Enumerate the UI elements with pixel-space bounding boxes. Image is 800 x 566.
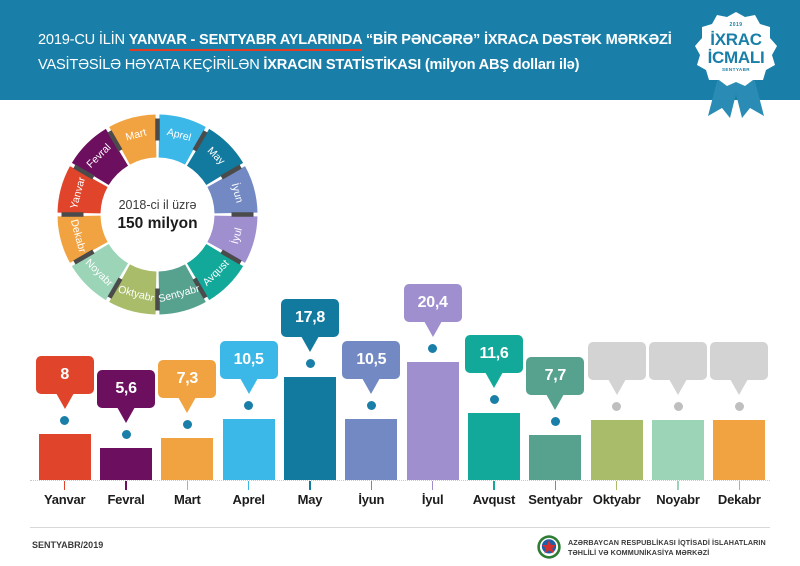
marker-dot-i̇yul (428, 344, 437, 353)
infographic-page: 2019-CU İLİN YANVAR - SENTYABR AYLARINDA… (0, 0, 800, 566)
value-bubble-avqust: 11,6 (465, 335, 523, 373)
value-bubble-aprel: 10,5 (220, 341, 278, 379)
bar-yanvar[interactable] (39, 434, 91, 480)
axis-tick-may (309, 481, 311, 490)
bar-i̇yul[interactable] (407, 362, 459, 480)
bar-may[interactable] (284, 377, 336, 480)
x-label-mart: Mart (157, 492, 218, 507)
axis-tick-noyabr (677, 481, 679, 490)
x-label-aprel: Aprel (218, 492, 279, 507)
bar-avqust[interactable] (468, 413, 520, 480)
axis-tick-fevral (125, 481, 127, 490)
footer-date: SENTYABR/2019 (32, 540, 103, 550)
title-line2-prefix: VASİTƏSİLƏ HƏYATA KEÇİRİLƏN (38, 57, 263, 73)
marker-dot-sentyabr (551, 417, 560, 426)
state-emblem-icon (536, 534, 562, 560)
title-line1-suffix: “BİR PƏNCƏRƏ” İXRACA DƏSTƏK MƏRKƏZİ (362, 32, 672, 48)
title-prefix: 2019-CU İLİN (38, 32, 129, 48)
marker-dot-may (306, 359, 315, 368)
axis-tick-yanvar (64, 481, 66, 490)
value-bubble-tail (117, 407, 135, 423)
bar-aprel[interactable] (223, 419, 275, 480)
footer-org-line2: TƏHLİLİ VƏ KOMMUNİKASİYA MƏRKƏZİ (568, 548, 766, 558)
axis-tick-avqust (493, 481, 495, 490)
bar-sentyabr[interactable] (529, 435, 581, 480)
bar-mart[interactable] (161, 438, 213, 480)
value-bubble-yanvar: 8 (36, 356, 94, 394)
footer-org-line1: AZƏRBAYCAN RESPUBLİKASI İQTİSADİ İSLAHAT… (568, 538, 766, 548)
axis-tick-aprel (248, 481, 250, 490)
title-line2-bold: İXRACIN STATİSTİKASI (milyon ABŞ dolları… (263, 57, 579, 73)
x-label-oktyabr: Oktyabr (586, 492, 647, 507)
value-bubble-fevral: 5,6 (97, 370, 155, 408)
footer-organization: AZƏRBAYCAN RESPUBLİKASI İQTİSADİ İSLAHAT… (568, 538, 766, 557)
value-bubble-oktyabr (588, 342, 646, 380)
bar-oktyabr[interactable] (591, 420, 643, 480)
monthly-donut-chart: AprelMayİyunİyulAvqustSentyabrOktyabrNoy… (55, 112, 260, 317)
axis-tick-oktyabr (616, 481, 618, 490)
value-bubble-noyabr (649, 342, 707, 380)
badge-line2: İCMALI (688, 48, 784, 68)
value-bubble-sentyabr: 7,7 (526, 357, 584, 395)
value-bubble-dekabr (710, 342, 768, 380)
marker-dot-avqust (490, 395, 499, 404)
marker-dot-i̇yun (367, 401, 376, 410)
bar-i̇yun[interactable] (345, 419, 397, 480)
marker-dot-aprel (244, 401, 253, 410)
header-band: 2019-CU İLİN YANVAR - SENTYABR AYLARINDA… (0, 0, 800, 100)
marker-dot-yanvar (60, 416, 69, 425)
x-label-dekabr: Dekabr (709, 492, 770, 507)
value-bubble-i̇yul: 20,4 (404, 284, 462, 322)
value-bubble-tail (485, 372, 503, 388)
marker-dot-oktyabr (612, 402, 621, 411)
marker-dot-dekabr (735, 402, 744, 411)
axis-tick-sentyabr (555, 481, 557, 490)
value-bubble-tail (669, 379, 687, 395)
marker-dot-fevral (122, 430, 131, 439)
x-label-fevral: Fevral (95, 492, 156, 507)
badge-year: 2019 (688, 22, 784, 28)
value-bubble-tail (240, 378, 258, 394)
value-bubble-tail (730, 379, 748, 395)
badge-month: SENTYABR (688, 67, 784, 72)
page-title: 2019-CU İLİN YANVAR - SENTYABR AYLARINDA… (38, 28, 678, 78)
axis-tick-dekabr (739, 481, 741, 490)
x-label-noyabr: Noyabr (647, 492, 708, 507)
value-bubble-tail (56, 393, 74, 409)
title-period-underlined: YANVAR - SENTYABR AYLARINDA (129, 32, 362, 51)
value-bubble-tail (362, 378, 380, 394)
x-label-sentyabr: Sentyabr (525, 492, 586, 507)
footer-divider (30, 527, 770, 528)
axis-tick-i̇yun (371, 481, 373, 490)
x-label-i̇yun: İyun (341, 492, 402, 507)
ixrac-icmali-badge: 2019 İXRAC İCMALI SENTYABR (688, 8, 784, 120)
marker-dot-noyabr (674, 402, 683, 411)
value-bubble-tail (546, 394, 564, 410)
bar-dekabr[interactable] (713, 420, 765, 480)
x-label-may: May (279, 492, 340, 507)
bar-fevral[interactable] (100, 448, 152, 480)
value-bubble-may: 17,8 (281, 299, 339, 337)
x-label-avqust: Avqust (463, 492, 524, 507)
bar-noyabr[interactable] (652, 420, 704, 480)
value-bubble-tail (608, 379, 626, 395)
axis-tick-mart (187, 481, 189, 490)
axis-tick-i̇yul (432, 481, 434, 490)
value-bubble-tail (301, 336, 319, 352)
x-label-i̇yul: İyul (402, 492, 463, 507)
badge-line1: İXRAC (688, 30, 784, 50)
value-bubble-i̇yun: 10,5 (342, 341, 400, 379)
x-label-yanvar: Yanvar (34, 492, 95, 507)
donut-ring-svg (55, 112, 260, 317)
value-bubble-tail (178, 397, 196, 413)
marker-dot-mart (183, 420, 192, 429)
value-bubble-tail (424, 321, 442, 337)
value-bubble-mart: 7,3 (158, 360, 216, 398)
monthly-bar-chart: 8Yanvar5,6Fevral7,3Mart10,5Aprel17,8May1… (0, 300, 800, 500)
chart-baseline (30, 480, 770, 481)
